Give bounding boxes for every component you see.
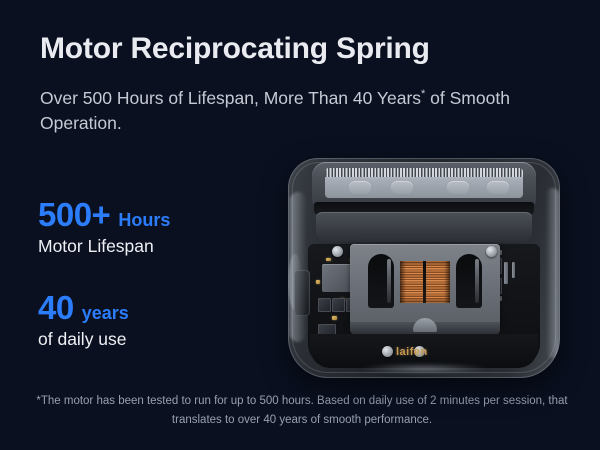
- stats-list: 500+ Hours Motor Lifespan 40 years of da…: [38, 198, 253, 351]
- connector-strip: [504, 262, 508, 284]
- motor-slot-right: [456, 254, 482, 308]
- stat-item-daily-use: 40 years of daily use: [38, 291, 253, 350]
- screw: [382, 346, 393, 357]
- motor-slot-left: [368, 254, 394, 308]
- subtitle-text-part1: Over 500 Hours of Lifespan, More Than 40…: [40, 88, 421, 108]
- stat-unit-hours: Hours: [118, 210, 170, 231]
- foil-tab: [349, 181, 371, 194]
- solder-pad: [316, 280, 320, 284]
- smd-component: [318, 298, 331, 312]
- shaver-body: laifen: [288, 158, 560, 378]
- copper-coil: [400, 261, 450, 303]
- stat-caption-motor-lifespan: Motor Lifespan: [38, 235, 253, 258]
- ic-chip-left: [322, 264, 352, 292]
- page-subtitle: Over 500 Hours of Lifespan, More Than 40…: [40, 86, 560, 136]
- stat-value-500: 500+: [38, 198, 110, 233]
- body-edge-highlight-left: [290, 192, 306, 342]
- body-edge-highlight-right: [546, 188, 559, 358]
- foil-teeth: [325, 168, 523, 177]
- stat-value-row: 500+ Hours: [38, 198, 253, 233]
- shaver-head: [312, 162, 536, 206]
- foil-tab: [447, 181, 469, 194]
- footnote-text: *The motor has been tested to run for up…: [30, 392, 574, 430]
- stat-unit-years: years: [82, 303, 129, 324]
- shaver-chassis-bar: [316, 212, 532, 242]
- shaver-foil: [325, 168, 523, 198]
- page-title: Motor Reciprocating Spring: [40, 32, 430, 66]
- brand-logo-laifen: laifen: [396, 346, 428, 358]
- screw: [486, 246, 497, 257]
- stat-value-row: 40 years: [38, 291, 253, 326]
- stat-item-motor-lifespan: 500+ Hours Motor Lifespan: [38, 198, 253, 257]
- foil-tab: [487, 181, 509, 194]
- motor-housing: [350, 244, 500, 328]
- solder-pad: [332, 316, 337, 320]
- stat-value-40: 40: [38, 291, 74, 326]
- solder-pad: [326, 258, 331, 261]
- stat-caption-daily-use: of daily use: [38, 328, 253, 351]
- promo-banner: Motor Reciprocating Spring Over 500 Hour…: [0, 0, 600, 450]
- smd-component: [332, 298, 345, 312]
- product-image-shaver-cutaway: laifen: [278, 150, 570, 382]
- bottom-highlight: [358, 364, 490, 373]
- connector-strip: [512, 262, 515, 278]
- foil-tab: [391, 181, 413, 194]
- screw: [332, 246, 343, 257]
